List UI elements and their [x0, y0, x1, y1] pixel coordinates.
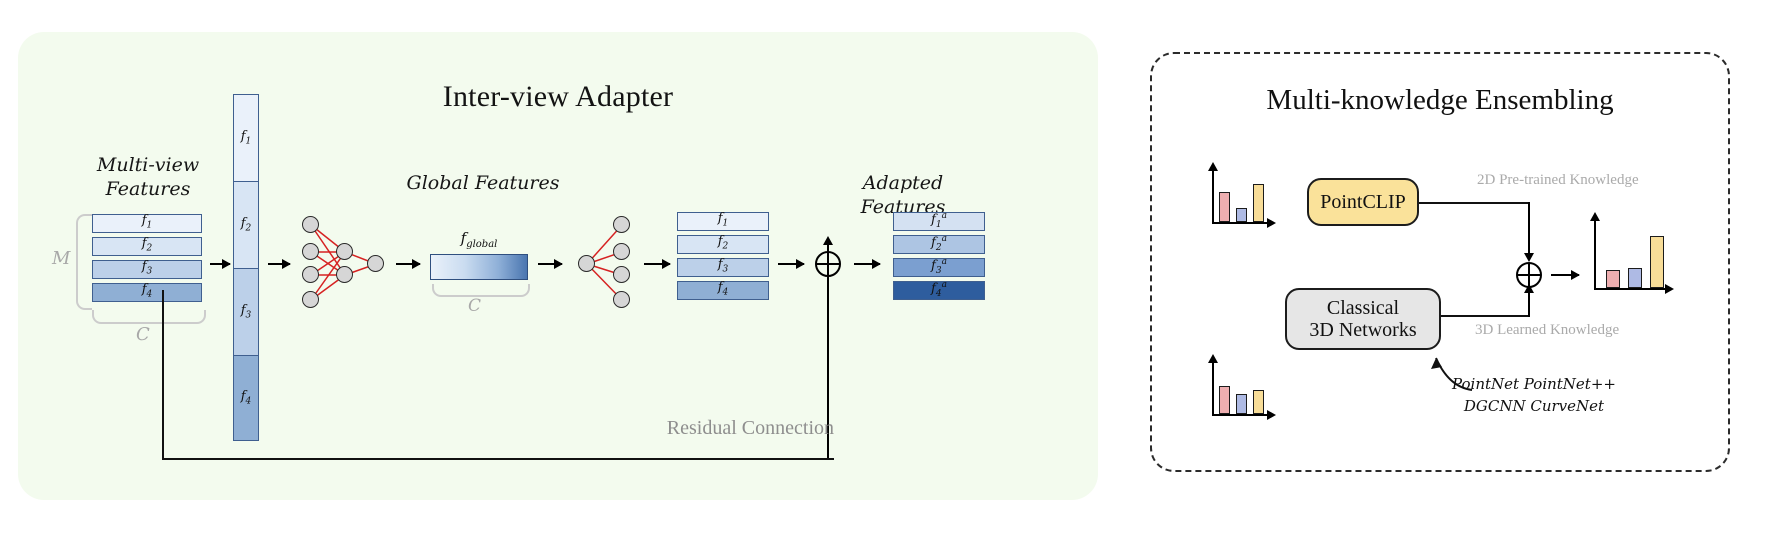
multi-view-feature-row-1: f1	[92, 214, 202, 233]
adapted-feature-row-3: f3a	[893, 258, 985, 277]
pointclip-to-add-line	[1419, 202, 1529, 204]
feature-label: f4	[718, 281, 729, 298]
pointclip-logits-bar-1	[1219, 192, 1230, 222]
netnames-line1: PointNet PointNet++	[1452, 375, 1616, 393]
pointclip-label: PointCLIP	[1320, 191, 1406, 213]
arrow-to-adapted	[854, 263, 880, 265]
gf-symbol-sub: global	[466, 239, 497, 250]
concatenated-feature-vector: f1f2f3f4	[233, 94, 259, 441]
concat-segment-label: f3	[241, 303, 252, 321]
feature-label: f3	[142, 260, 153, 277]
residual-connection-horizontal	[162, 458, 834, 460]
classical-line2: 3D Networks	[1309, 319, 1416, 341]
pointclip-logits-bar-2	[1236, 208, 1247, 222]
ensembled-logits-bar-3	[1650, 236, 1664, 288]
global-cols-label: C	[468, 296, 481, 316]
chart-ensembled-logits	[1594, 218, 1674, 290]
arrow-to-ensembled-chart	[1551, 274, 1579, 276]
adapted-feature-row-4: f4a	[893, 281, 985, 300]
classical-line1: Classical	[1327, 297, 1399, 319]
feature-label: f1	[718, 212, 729, 229]
feature-label: f1a	[931, 212, 947, 230]
mlp-encoder-node-in-3	[302, 266, 319, 283]
multi-view-feature-row-3: f3	[92, 260, 202, 279]
residual-connection-label: Residual Connection	[614, 417, 834, 440]
mv-caption-line1: Multi-view	[97, 154, 199, 176]
mv-caption-line2: Features	[106, 178, 191, 200]
feature-label: f3	[718, 258, 729, 275]
chart-classical-logits	[1212, 360, 1274, 416]
classical-logits-bar-3	[1253, 390, 1264, 414]
concat-vector-segment-1: f1	[233, 94, 259, 182]
mlp-decoder-node-out-4	[613, 291, 630, 308]
classical-to-add-line	[1441, 315, 1529, 317]
rows-brace	[76, 214, 92, 310]
mlp-decoder-node-in	[578, 255, 595, 272]
concat-vector-segment-4: f4	[233, 355, 259, 441]
mlp-encoder-node-in-4	[302, 291, 319, 308]
classical-to-add-arrow	[1528, 292, 1530, 317]
concat-segment-label: f2	[241, 216, 252, 234]
adapted-feature-row-2: f2a	[893, 235, 985, 254]
multi-view-feature-stack: f1f2f3f4	[92, 214, 202, 306]
arrow-to-mlp1	[268, 263, 290, 265]
netnames-line2: DGCNN CurveNet	[1464, 397, 1604, 415]
classical-network-names: PointNet PointNet++ DGCNN CurveNet	[1452, 374, 1616, 418]
arrow-to-add	[778, 263, 804, 265]
feature-label: f2a	[931, 235, 947, 253]
pointclip-to-add-arrow	[1528, 202, 1530, 254]
feature-label: f4a	[931, 281, 947, 299]
mlp-decoder-node-out-2	[613, 243, 630, 260]
arrow-to-mlp2	[538, 263, 562, 265]
arrow-to-concat	[210, 263, 230, 265]
output-feature-row-4: f4	[677, 281, 769, 300]
global-features-caption: Global Features	[398, 172, 568, 196]
output-feature-stack: f1f2f3f4	[677, 212, 769, 304]
feature-label: f2	[142, 237, 153, 254]
residual-connection-vertical	[162, 290, 164, 460]
cols-count-label: C	[136, 324, 150, 345]
output-feature-row-1: f1	[677, 212, 769, 231]
label-2d-pretrained-knowledge: 2D Pre-trained Knowledge	[1477, 172, 1639, 189]
mlp-encoder-node-in-1	[302, 216, 319, 233]
page-title-multi-knowledge: Multi-knowledge Ensembling	[1150, 84, 1730, 117]
feature-label: f4	[142, 283, 153, 300]
label-3d-learned-knowledge: 3D Learned Knowledge	[1475, 322, 1619, 339]
mlp-decoder-node-out-1	[613, 216, 630, 233]
classical-3d-networks-box[interactable]: Classical 3D Networks	[1285, 288, 1441, 350]
mlp-decoder-node-out-3	[613, 266, 630, 283]
classical-3d-networks-label: Classical 3D Networks	[1309, 297, 1416, 342]
feature-label: f3a	[931, 258, 947, 276]
output-feature-row-2: f2	[677, 235, 769, 254]
feature-label: f1	[142, 214, 153, 231]
concat-vector-segment-2: f2	[233, 181, 259, 269]
global-feature-label: fglobal	[430, 229, 528, 250]
figure-canvas: Inter-view Adapter Multi-view Features M…	[0, 0, 1766, 550]
ensembled-logits-bar-2	[1628, 268, 1642, 288]
cols-brace	[92, 310, 206, 324]
adapted-feature-row-1: f1a	[893, 212, 985, 231]
arrow-to-output	[644, 263, 670, 265]
mlp-encoder-node-hid-2	[336, 266, 353, 283]
concat-segment-label: f4	[241, 389, 252, 407]
concat-segment-label: f1	[241, 129, 252, 147]
ensembled-logits-bar-1	[1606, 270, 1620, 288]
global-feature-bar	[430, 254, 528, 280]
multi-view-feature-row-2: f2	[92, 237, 202, 256]
chart-pointclip-logits	[1212, 168, 1274, 224]
inter-view-adapter-panel: Inter-view Adapter Multi-view Features M…	[18, 32, 1098, 500]
classical-logits-bar-1	[1219, 386, 1230, 414]
pointclip-logits-bar-3	[1253, 184, 1264, 222]
concat-vector-segment-3: f3	[233, 268, 259, 356]
output-feature-row-3: f3	[677, 258, 769, 277]
mlp-encoder-node-hid-1	[336, 243, 353, 260]
rows-count-label: M	[52, 248, 70, 269]
multi-view-feature-row-4: f4	[92, 283, 202, 302]
mlp-encoder-node-in-2	[302, 243, 319, 260]
adapted-feature-stack: f1af2af3af4a	[893, 212, 985, 304]
arrow-to-global	[396, 263, 420, 265]
feature-label: f2	[718, 235, 729, 252]
page-title-inter-view-adapter: Inter-view Adapter	[18, 80, 1098, 114]
pointclip-box[interactable]: PointCLIP	[1307, 178, 1419, 226]
multi-view-features-caption: Multi-view Features	[58, 154, 238, 202]
mlp-encoder-node-out	[367, 255, 384, 272]
classical-logits-bar-2	[1236, 394, 1247, 414]
